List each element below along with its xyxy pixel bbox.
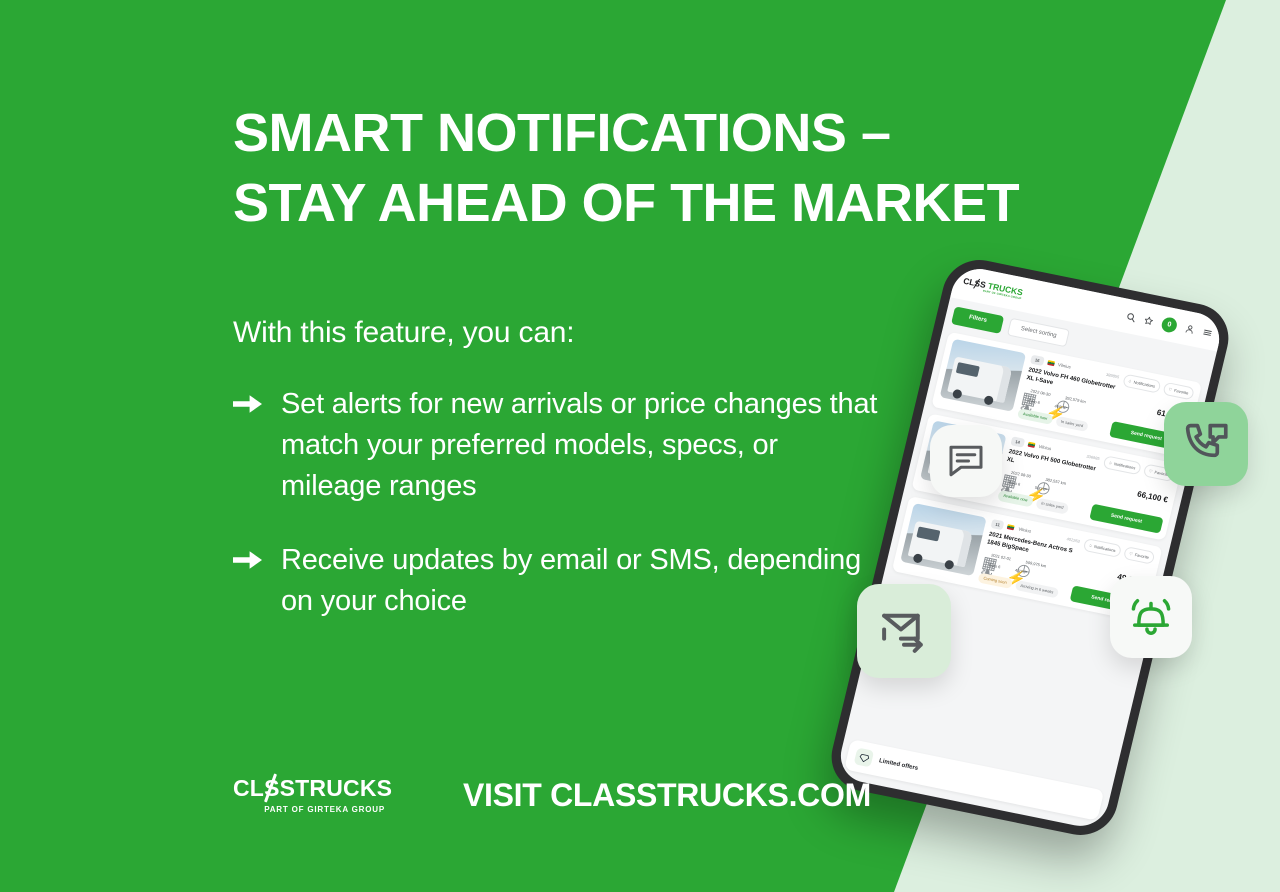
promo-poster: SMART NOTIFICATIONS – STAY AHEAD OF THE … — [0, 0, 1280, 892]
classtrucks-logo: CLSSTRUCKS PART OF GIRTEKA GROUP — [233, 777, 385, 814]
listing-city: Vilnius — [1038, 444, 1052, 451]
limited-offers-label: Limited offers — [878, 758, 918, 772]
limited-offers-bar[interactable]: Limited offers — [844, 739, 1104, 821]
status-badge: In sales yard — [1055, 416, 1090, 433]
notification-count-badge[interactable]: 0 — [1160, 316, 1178, 334]
list-item: Set alerts for new arrivals or price cha… — [233, 384, 1033, 506]
road-icon: ◷ — [1058, 395, 1064, 401]
notifications-button[interactable]: ♤Notifications — [1122, 374, 1162, 394]
listing-stock-number: 389855 — [1106, 372, 1120, 380]
flag-icon — [1047, 360, 1055, 366]
bell-icon: ♤ — [1088, 543, 1093, 549]
footer: CLSSTRUCKS PART OF GIRTEKA GROUP VISIT C… — [233, 777, 871, 814]
logo-text-part1: CL — [233, 777, 264, 800]
arrow-right-icon — [233, 384, 267, 415]
power-icon: ⚡ — [1047, 403, 1053, 409]
bell-icon: ♤ — [1108, 460, 1113, 466]
listing-stock-number: 336985 — [1086, 454, 1100, 462]
phone-message-icon — [1164, 402, 1248, 486]
notifications-label: Notifications — [1133, 380, 1156, 389]
page-title: SMART NOTIFICATIONS – STAY AHEAD OF THE … — [233, 98, 1033, 238]
menu-icon[interactable] — [1202, 327, 1213, 338]
star-icon[interactable] — [1143, 315, 1154, 326]
listing-city: Vilnius — [1058, 362, 1072, 369]
notifications-button[interactable]: ♤Notifications — [1082, 538, 1122, 558]
notifications-label: Notifications — [1094, 544, 1117, 553]
logo-tagline: PART OF GIRTEKA GROUP — [233, 805, 385, 814]
list-item-label: Set alerts for new arrivals or price cha… — [281, 384, 881, 506]
status-badge: In sales yard — [1035, 498, 1070, 515]
logo-text-part3: TRUCKS — [295, 777, 392, 800]
notifications-button[interactable]: ♤Notifications — [1102, 456, 1142, 476]
bell-icon: ♤ — [1128, 378, 1133, 384]
arrow-right-icon — [233, 540, 267, 571]
favorite-button[interactable]: ♡Favorite — [1162, 382, 1194, 401]
feature-list: Set alerts for new arrivals or price cha… — [233, 350, 1033, 621]
heart-icon: ♡ — [1168, 387, 1173, 393]
cta-website[interactable]: VISIT CLASSTRUCKS.COM — [463, 777, 871, 814]
list-item-label: Receive updates by email or SMS, dependi… — [281, 540, 881, 621]
favorite-button[interactable]: ♡Favorite — [1123, 546, 1155, 565]
heart-icon: ♡ — [1148, 469, 1153, 475]
heart-icon: ♡ — [1129, 551, 1134, 557]
listing-price: 66,100 € — [1136, 490, 1169, 505]
favorite-label: Favorite — [1134, 552, 1149, 560]
chat-bubble-icon — [930, 425, 1002, 497]
diamond-icon — [854, 747, 875, 767]
search-icon[interactable] — [1126, 311, 1137, 322]
alarm-bell-icon — [1110, 576, 1192, 658]
notifications-label: Notifications — [1113, 462, 1136, 471]
listing-stock-number: 402263 — [1066, 536, 1080, 544]
favorite-label: Favorite — [1174, 388, 1189, 396]
copy-column: SMART NOTIFICATIONS – STAY AHEAD OF THE … — [233, 98, 1033, 655]
profile-icon[interactable] — [1185, 323, 1196, 334]
send-request-button[interactable]: Send request — [1089, 504, 1163, 534]
subheading: With this feature, you can: — [233, 238, 1033, 350]
road-icon: ◷ — [1038, 477, 1044, 483]
mail-send-icon — [857, 584, 951, 678]
